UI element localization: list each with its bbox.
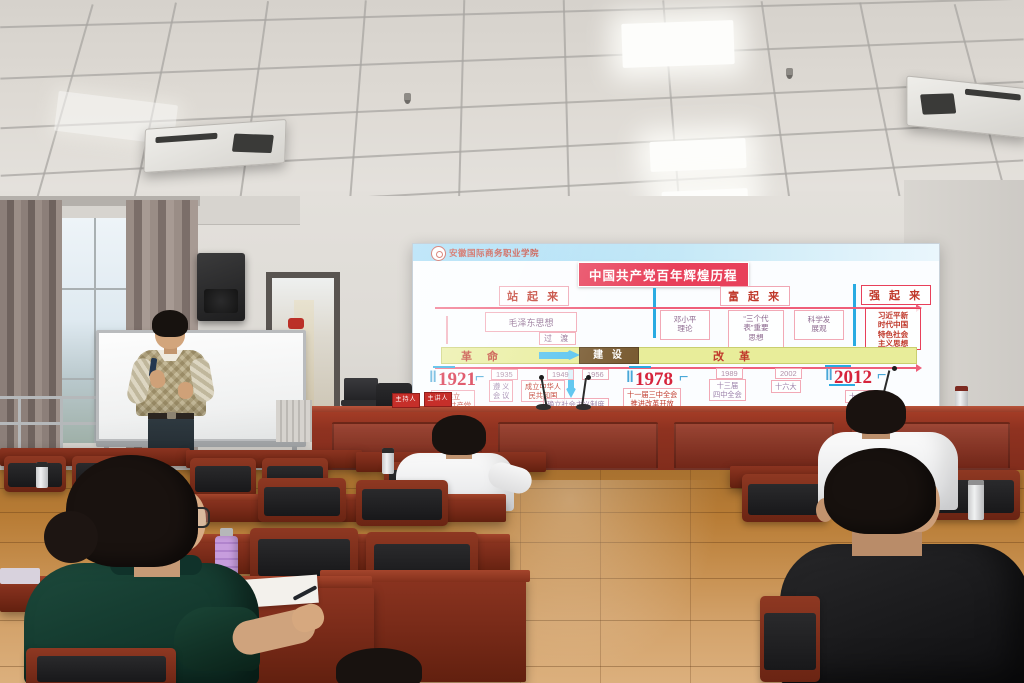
slide-title: 中国共产党百年辉煌历程 bbox=[578, 262, 749, 287]
hair bbox=[824, 448, 936, 534]
era-divider-tick bbox=[853, 284, 856, 346]
timeline-year-1989: 1989 bbox=[716, 368, 743, 379]
era-divider-tick bbox=[653, 312, 656, 338]
thought-box-2: 邓小平 理论 bbox=[660, 310, 710, 340]
microphone-base bbox=[576, 404, 591, 410]
nameplate: 主持人 bbox=[392, 393, 420, 408]
nameplate: 主讲人 bbox=[424, 392, 452, 407]
ceiling-ac-unit bbox=[143, 119, 286, 173]
belt-buckle bbox=[167, 412, 176, 419]
phase-label-construction: 建 设 bbox=[579, 347, 639, 364]
era-label-3: 强 起 来 bbox=[861, 285, 931, 305]
sprinkler-head-icon bbox=[404, 93, 411, 102]
era-label-1: 站 起 来 bbox=[499, 286, 569, 306]
slide-organization-name: 安徽国际商务职业学院 bbox=[449, 247, 539, 259]
timeline-year-1921: 1921 bbox=[438, 370, 476, 389]
timeline-year-2002: 2002 bbox=[775, 368, 802, 379]
thought-box-1: 毛泽东思想 bbox=[485, 312, 577, 332]
phase-label-revolution: 革 命 bbox=[461, 348, 504, 364]
era-label-2: 富 起 来 bbox=[720, 286, 790, 306]
microphone-capsule bbox=[539, 375, 544, 380]
timeline-year-1935: 1935 bbox=[491, 369, 518, 380]
year-bracket: ⌐ bbox=[679, 370, 688, 386]
thought-box-3: “三个代 表”重要 思想 bbox=[728, 310, 784, 348]
year-bracket: ⌐ bbox=[475, 370, 484, 386]
transition-arrow-icon bbox=[539, 349, 581, 361]
year-underline bbox=[825, 365, 851, 367]
thought-box-5: 习近平新 时代中国 特色社会 主义思想 bbox=[865, 308, 921, 350]
phase-band bbox=[441, 347, 917, 364]
chair[interactable] bbox=[356, 480, 448, 526]
thought-box-4: 科学发 展观 bbox=[794, 310, 844, 340]
year-underline bbox=[629, 366, 651, 368]
ceiling-light-panel bbox=[649, 138, 746, 172]
year-bracket: ‖ bbox=[429, 370, 437, 386]
year-underline bbox=[829, 384, 855, 386]
fire-alarm-icon bbox=[288, 318, 304, 329]
microphone-base bbox=[536, 404, 551, 410]
timeline-year-1949: 1949 bbox=[547, 369, 574, 380]
radiator bbox=[276, 400, 312, 442]
sprinkler-head-icon bbox=[786, 68, 793, 77]
chair[interactable] bbox=[760, 596, 820, 682]
thought-tick bbox=[446, 316, 448, 344]
microphone-capsule bbox=[586, 375, 591, 380]
timeline-event-1935: 遵 义 会 议 bbox=[489, 380, 513, 402]
microphone-capsule bbox=[892, 366, 897, 371]
presenter bbox=[124, 310, 216, 455]
thermos-bottle bbox=[382, 448, 394, 474]
timeline-event-2002: 十六大 bbox=[771, 380, 801, 393]
presenter-hair bbox=[152, 310, 188, 337]
ceiling-ac-unit bbox=[906, 75, 1024, 138]
timeline-event-1989: 十三届 四中全会 bbox=[709, 379, 746, 401]
top-axis-line bbox=[435, 307, 917, 309]
hair-bun bbox=[44, 511, 98, 563]
partial-head bbox=[336, 648, 422, 683]
seal-logo-icon bbox=[431, 246, 446, 261]
chair[interactable] bbox=[26, 648, 176, 683]
ceiling-light-panel bbox=[621, 20, 734, 68]
lecture-room-photo: 安徽国际商务职业学院 中国共产党百年辉煌历程 站 起 来 富 起 来 强 起 来… bbox=[0, 0, 1024, 683]
year-bracket: ‖ bbox=[825, 368, 833, 384]
laptop-screen[interactable] bbox=[344, 378, 378, 402]
year-bracket: ‖ bbox=[626, 370, 634, 386]
phase-label-reform: 改 革 bbox=[713, 348, 756, 364]
timeline-year-1978: 1978 bbox=[635, 370, 673, 389]
head-back bbox=[846, 390, 906, 434]
phase-label-transition: 过 渡 bbox=[539, 332, 576, 345]
presenter-right-hand bbox=[178, 382, 193, 399]
pen bbox=[293, 585, 318, 601]
head-back bbox=[432, 415, 486, 455]
year-underline bbox=[433, 366, 455, 368]
